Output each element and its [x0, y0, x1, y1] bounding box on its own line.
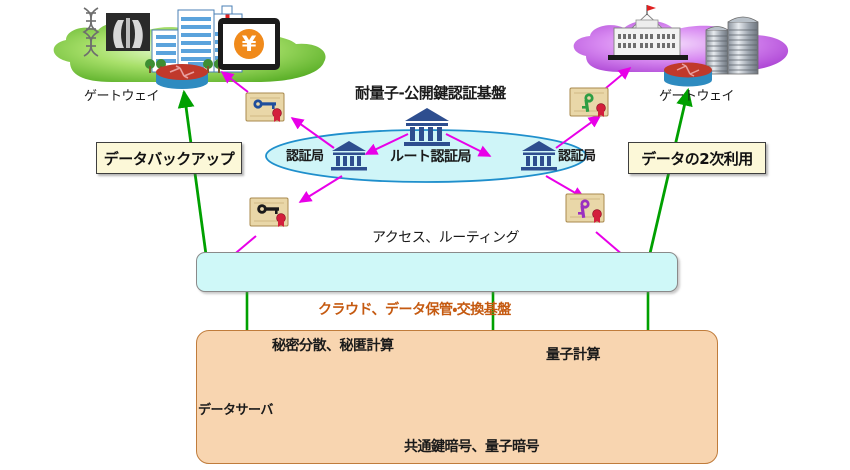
certificate-green-key-icon [570, 88, 608, 117]
tablet-yen-icon: ¥ [218, 18, 280, 70]
secret-sharing-label: 秘密分散、秘匿計算 [272, 339, 394, 353]
pki-title: 耐量子-公開鍵認証基盤 [355, 86, 506, 101]
data-server-label: データサーバ [198, 404, 273, 417]
certificate-blue-key-icon [246, 93, 284, 122]
callout-data-backup[interactable]: データバックアップ [96, 142, 242, 174]
tablet-screen: ¥ [223, 24, 275, 64]
callout-secondary-use[interactable]: データの2次利用 [628, 142, 766, 174]
office-tower-icon [706, 17, 758, 74]
gateway-label-left: ゲートウェイ [84, 90, 159, 103]
gateway-router-icon-right[interactable] [664, 63, 712, 87]
ca-label-right: 認証局 [558, 150, 596, 163]
gateway-router-icon-left[interactable] [156, 64, 208, 89]
certificate-black-key-icon [250, 198, 288, 227]
crypto-bottom-label: 共通鍵暗号、量子暗号 [404, 440, 539, 454]
yen-coin-icon: ¥ [234, 29, 264, 59]
gateway-label-right: ゲートウェイ [659, 90, 734, 103]
government-building-icon [608, 5, 688, 60]
quantum-computing-label: 量子計算 [546, 348, 600, 362]
root-ca-label: ルート認証局 [390, 150, 471, 164]
network-label: アクセス、ルーティング [372, 231, 519, 245]
certificate-purple-key-icon [566, 194, 604, 223]
network-access-bar [196, 252, 678, 292]
ca-label-left: 認証局 [286, 150, 324, 163]
diagram-canvas: ¥ データバックアップ データの2次利用 ゲートウェイ ゲートウェイ 耐量子-公… [0, 0, 850, 470]
cloud-platform-heading: クラウド、データ保管・交換基盤 [318, 303, 511, 317]
xray-image-icon [106, 13, 150, 51]
